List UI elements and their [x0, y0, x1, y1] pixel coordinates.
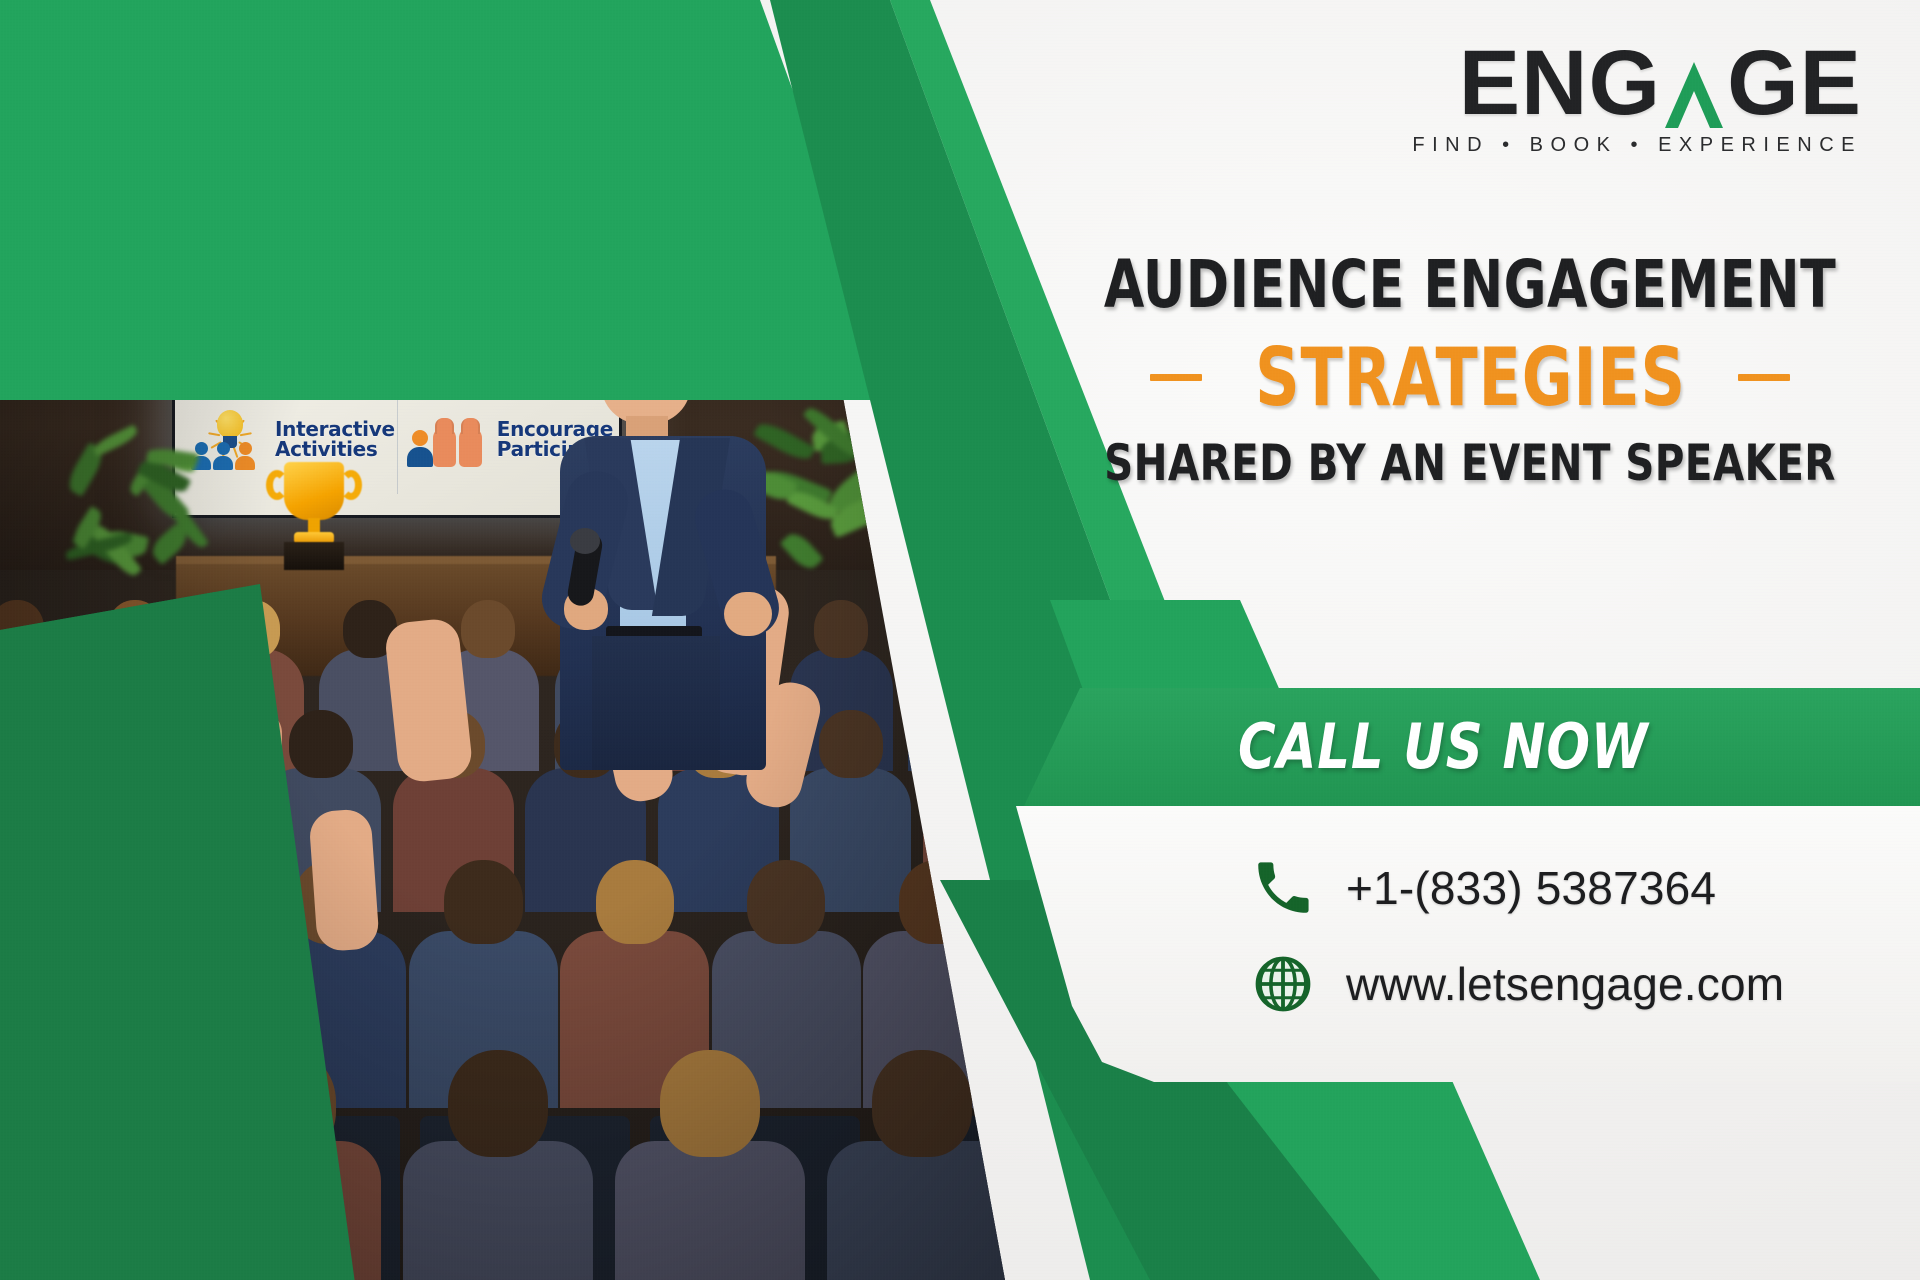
raised-hand [700, 581, 792, 778]
call-to-action-label: CALL US NOW [1238, 710, 1648, 783]
right-content-panel: ENG GE FIND • BOOK • EXPERIENCE AUDIENCE… [1020, 0, 1920, 1280]
headline-line-3-thick: AN EVENT SPEAKER [1380, 434, 1835, 492]
website-url: www.letsengage.com [1346, 957, 1784, 1011]
audience-member-body [319, 649, 422, 771]
audience-member-body [827, 1141, 1017, 1280]
audience-member [819, 710, 883, 778]
raised-hands-icon [407, 409, 491, 469]
audience-member-body [525, 768, 646, 912]
call-to-action-bar[interactable]: CALL US NOW [962, 688, 1920, 806]
audience-member-body [790, 768, 911, 912]
engage-logo[interactable]: ENG GE FIND • BOOK • EXPERIENCE [1412, 38, 1862, 157]
auditorium-seat [420, 1116, 630, 1280]
logo-triangle-a-icon [1663, 60, 1725, 130]
audience-member-body [790, 649, 893, 771]
contact-row-website[interactable]: www.letsengage.com [1250, 936, 1784, 1032]
audience-member [444, 860, 522, 944]
lightbulb-people-icon [191, 408, 269, 470]
contact-card: +1-(833) 5387364 www.letsengage.com [954, 806, 1920, 1082]
potted-plant-right [750, 420, 900, 590]
raised-hand [594, 667, 678, 806]
raised-hand [741, 677, 826, 813]
audience-member [697, 600, 751, 658]
slide-label-interactive-activities: InteractiveActivities [275, 419, 395, 460]
audience-member [448, 1050, 548, 1157]
marketing-banner: ? AskQuestions [0, 0, 1920, 1280]
audience-member-body [403, 1141, 593, 1280]
audience-member [747, 860, 825, 944]
logo-tagline: FIND • BOOK • EXPERIENCE [1412, 134, 1862, 157]
audience-member [579, 600, 633, 658]
logo-text-part1: ENG [1459, 38, 1661, 128]
audience-member-body [615, 1141, 805, 1280]
smartwatch [706, 688, 740, 706]
audience-member [596, 860, 674, 944]
audience-member [660, 1050, 760, 1157]
golden-trophy [266, 462, 362, 570]
slide-label-encourage-participation: EncourageParticipation [497, 419, 638, 460]
contact-row-phone[interactable]: +1-(833) 5387364 [1250, 840, 1784, 936]
globe-icon [1250, 951, 1316, 1017]
auditorium-seat [650, 1116, 860, 1280]
audience-member [343, 600, 397, 658]
audience-member-body [409, 931, 558, 1108]
headline-line-2: STRATEGIES [1255, 331, 1686, 424]
phone-handset-icon [1250, 855, 1316, 921]
headline-dash-left [1150, 374, 1202, 381]
raised-hand [308, 808, 380, 952]
headline-line-3: SHARED BY AN EVENT SPEAKER [1085, 434, 1855, 492]
audience-member [461, 600, 515, 658]
audience-member [687, 710, 751, 778]
audience-member [554, 710, 618, 778]
audience-member-body [672, 649, 775, 771]
logo-text-part2: GE [1727, 38, 1862, 128]
headline-dash-right [1738, 374, 1790, 381]
microphone [566, 530, 604, 607]
audience-member [289, 710, 353, 778]
audience-member [814, 600, 868, 658]
headline-block: AUDIENCE ENGAGEMENT STRATEGIES SHARED BY… [1042, 246, 1898, 492]
audience-member-body [555, 649, 658, 771]
audience-member-body [393, 768, 514, 912]
raised-hand [383, 617, 473, 784]
headline-line-3-thin: SHARED BY [1104, 434, 1380, 492]
audience-member-body [658, 768, 779, 912]
potted-plant-left [58, 430, 208, 590]
audience-member [422, 710, 486, 778]
headline-line-1: AUDIENCE ENGAGEMENT [1093, 246, 1846, 323]
phone-number: +1-(833) 5387364 [1346, 861, 1716, 915]
audience-member-body [437, 649, 540, 771]
audience-member [872, 1050, 972, 1157]
audience-member-body [712, 931, 861, 1108]
audience-member-body [560, 931, 709, 1108]
